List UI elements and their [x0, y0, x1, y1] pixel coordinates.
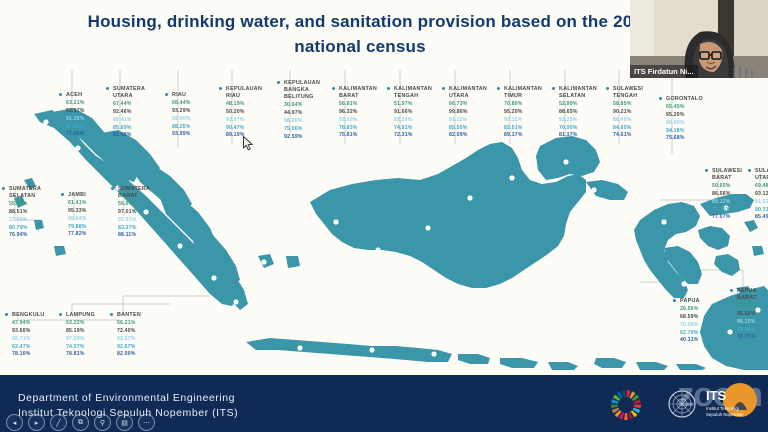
region-values: 66.73%99.86%91.11%85.50%82.09% — [449, 101, 487, 140]
value-indicator-2: 95.20% — [666, 112, 703, 120]
region-name: SULAWESI UTARA — [755, 168, 768, 182]
value-indicator-2: 99.86% — [449, 109, 487, 117]
region-values: 50.65%86.56%89.12%72.75%77.07% — [712, 183, 742, 222]
value-indicator-1: 58.85% — [613, 101, 643, 109]
region-label-kepulauan-riau: KEPULAUAN RIAU48.19%50.20%93.07%90.47%89… — [226, 86, 262, 140]
previous-slide-button[interactable]: ◂ — [6, 414, 23, 431]
value-indicator-3: 91.53% — [755, 199, 768, 207]
value-indicator-5: 81.08% — [113, 132, 145, 140]
region-values: 26.56%68.59%70.08%62.79%40.31% — [680, 306, 700, 345]
region-marker-dot — [106, 87, 109, 90]
region-name: KEPULAUAN RIAU — [226, 86, 262, 100]
value-indicator-4: 85.50% — [449, 125, 487, 133]
value-indicator-3: 92.11% — [504, 117, 542, 125]
value-indicator-4: 70.90% — [559, 125, 597, 133]
value-indicator-5: 40.31% — [680, 337, 700, 345]
value-indicator-1: 50.65% — [712, 183, 742, 191]
value-indicator-3: 97.59% — [66, 336, 95, 344]
value-indicator-5: 72.31% — [394, 132, 432, 140]
value-indicator-3: 90.90% — [666, 120, 703, 128]
svg-text:Institut Teknologi: Institut Teknologi — [706, 406, 739, 411]
value-indicator-1: 61.41% — [68, 200, 87, 208]
region-values: 55.44%95.52%86.10%75.56%78.71% — [737, 303, 757, 342]
value-indicator-2: 91.66% — [394, 109, 432, 117]
region-marker-dot — [552, 87, 555, 90]
value-indicator-5: 78.81% — [66, 351, 95, 359]
value-indicator-1: 68.44% — [172, 100, 191, 108]
region-label-lampung: LAMPUNG53.22%85.19%97.59%74.57%78.81% — [66, 312, 95, 359]
value-indicator-2: 96.32% — [339, 109, 377, 117]
value-indicator-4: 74.91% — [394, 125, 432, 133]
value-indicator-3: 27.89% — [9, 217, 41, 225]
value-indicator-2: 88.51% — [9, 209, 41, 217]
value-indicator-1: 56.81% — [339, 101, 377, 109]
value-indicator-1: 53.22% — [66, 320, 95, 328]
value-indicator-1: 26.56% — [680, 306, 700, 314]
region-name: PAPUA BARAT — [737, 288, 757, 302]
value-indicator-1: 55.44% — [737, 303, 757, 311]
search-button[interactable]: ⚲ — [94, 414, 111, 431]
region-values: 63.21%92.17%91.35%87.66%77.06% — [66, 100, 85, 139]
region-label-gorontalo: GORONTALO65.45%95.20%90.90%94.18%75.68% — [666, 96, 703, 143]
value-indicator-4: 87.66% — [66, 124, 85, 132]
region-values: 70.80%95.20%92.11%85.51%89.17% — [504, 101, 542, 140]
value-indicator-3: 89.12% — [712, 199, 742, 207]
region-label-jambi: JAMBI61.41%95.33%95.84%79.88%77.82% — [68, 192, 87, 239]
region-name: SULAWESI TENGAH — [613, 86, 643, 100]
value-indicator-2: 93.66% — [12, 328, 45, 336]
region-label-bengkulu: BENGKULU47.94%93.66%92.71%62.47%78.10% — [12, 312, 45, 359]
value-indicator-1: 56.21% — [117, 320, 141, 328]
value-indicator-2: 86.56% — [712, 191, 742, 199]
value-indicator-4: 72.75% — [712, 207, 742, 215]
page-title: Housing, drinking water, and sanitation … — [40, 10, 680, 59]
value-indicator-4: 92.67% — [117, 344, 141, 352]
value-indicator-2: 88.65% — [559, 109, 597, 117]
slide-toolbar[interactable]: ◂▸╱⧉⚲▤⋯ — [6, 414, 155, 431]
value-indicator-2: 93.29% — [172, 108, 191, 116]
region-name: KEPULAUAN BANGKA BELITUNG — [284, 80, 320, 101]
title-line-2: national census — [40, 35, 680, 60]
value-indicator-2: 90.21% — [613, 109, 643, 117]
value-indicator-5: 78.10% — [12, 351, 45, 359]
value-indicator-3: 92.27% — [117, 336, 141, 344]
region-values: 56.67%97.01%92.91%83.37%88.11% — [118, 201, 150, 240]
value-indicator-5: 74.61% — [613, 132, 643, 140]
region-marker-dot — [748, 169, 751, 172]
region-name: RIAU — [172, 92, 191, 99]
value-indicator-3: 89.41% — [113, 117, 145, 125]
value-indicator-4: 90.47% — [226, 125, 262, 133]
value-indicator-4: 79.88% — [68, 224, 87, 232]
sdg-wheel-logo — [596, 382, 656, 428]
region-label-riau: RIAU68.44%93.29%92.90%88.25%93.99% — [172, 92, 191, 139]
value-indicator-5: 75.68% — [666, 135, 703, 143]
value-indicator-2: 95.52% — [737, 311, 757, 319]
region-marker-dot — [606, 87, 609, 90]
value-indicator-4: 74.57% — [66, 344, 95, 352]
region-values: 48.19%50.20%93.07%90.47%89.19% — [226, 101, 262, 140]
value-indicator-5: 75.81% — [339, 132, 377, 140]
value-indicator-4: 75.56% — [737, 327, 757, 335]
region-marker-dot — [332, 87, 335, 90]
value-indicator-4: 85.51% — [504, 125, 542, 133]
region-marker-dot — [730, 289, 733, 292]
region-values: 69.48%93.13%91.53%90.31%85.49% — [755, 183, 768, 222]
region-values: 56.81%96.32%92.20%78.83%75.81% — [339, 101, 377, 140]
region-label-sulawesi-barat: SULAWESI BARAT50.65%86.56%89.12%72.75%77… — [712, 168, 742, 222]
region-marker-dot — [497, 87, 500, 90]
value-indicator-3: 88.40% — [613, 117, 643, 125]
value-indicator-3: 95.84% — [68, 216, 87, 224]
value-indicator-5: 77.06% — [66, 131, 85, 139]
region-label-kepulauan-bangka-belitung: KEPULAUAN BANGKA BELITUNG30.64%44.97%96.… — [284, 80, 320, 141]
value-indicator-4: 78.83% — [339, 125, 377, 133]
region-name: PAPUA — [680, 298, 700, 305]
region-name: SUMATERA UTARA — [113, 86, 145, 100]
region-marker-dot — [277, 81, 280, 84]
value-indicator-1: 30.64% — [284, 102, 320, 110]
region-label-sumatera-selatan: SUMATERA SELATAN55.25%88.51%27.89%80.79%… — [9, 186, 41, 240]
value-indicator-2: 92.17% — [66, 108, 85, 116]
region-values: 58.85%90.21%88.40%84.60%74.61% — [613, 101, 643, 140]
region-label-sumatera-barat: SUMATERA BARAT56.67%97.01%92.91%83.37%88… — [118, 186, 150, 240]
region-name: LAMPUNG — [66, 312, 95, 319]
region-label-sulawesi-utara: SULAWESI UTARA69.48%93.13%91.53%90.31%85… — [755, 168, 768, 222]
region-name: JAMBI — [68, 192, 87, 199]
region-marker-dot — [219, 87, 222, 90]
value-indicator-2: 95.20% — [504, 109, 542, 117]
value-indicator-1: 69.48% — [755, 183, 768, 191]
region-label-kalimantan-barat: KALIMANTAN BARAT56.81%96.32%92.20%78.83%… — [339, 86, 377, 140]
value-indicator-1: 55.25% — [9, 201, 41, 209]
region-values: 67.44%92.46%89.41%85.69%81.08% — [113, 101, 145, 140]
region-marker-dot — [59, 93, 62, 96]
region-values: 30.64%44.97%96.20%75.06%92.59% — [284, 102, 320, 141]
region-values: 55.25%88.51%27.89%80.79%76.94% — [9, 201, 41, 240]
value-indicator-1: 56.67% — [118, 201, 150, 209]
value-indicator-1: 47.94% — [12, 320, 45, 328]
value-indicator-3: 92.91% — [118, 217, 150, 225]
value-indicator-5: 77.07% — [712, 214, 742, 222]
region-label-sumatera-utara: SUMATERA UTARA67.44%92.46%89.41%85.69%81… — [113, 86, 145, 140]
region-values: 68.44%93.29%92.90%88.25%93.99% — [172, 100, 191, 139]
value-indicator-2: 93.13% — [755, 191, 768, 199]
region-values: 56.21%72.40%92.27%92.67%82.00% — [117, 320, 141, 359]
value-indicator-4: 62.47% — [12, 344, 45, 352]
more-options-button[interactable]: ⋯ — [138, 414, 155, 431]
value-indicator-1: 52.99% — [559, 101, 597, 109]
value-indicator-4: 83.37% — [118, 225, 150, 233]
its-logo: ITS Institut Teknologi Sepuluh Nopember — [700, 380, 766, 428]
value-indicator-2: 97.01% — [118, 209, 150, 217]
annotate-pen-button[interactable]: ╱ — [50, 414, 67, 431]
region-name: SULAWESI BARAT — [712, 168, 742, 182]
region-name: ACEH — [66, 92, 85, 99]
value-indicator-3: 93.07% — [226, 117, 262, 125]
region-marker-dot — [705, 169, 708, 172]
region-marker-dot — [165, 93, 168, 96]
value-indicator-4: 80.79% — [9, 225, 41, 233]
region-values: 65.45%95.20%90.90%94.18%75.68% — [666, 104, 703, 143]
region-label-kalimantan-utara: KALIMANTAN UTARA66.73%99.86%91.11%85.50%… — [449, 86, 487, 140]
value-indicator-5: 78.71% — [737, 334, 757, 342]
region-values: 61.41%95.33%95.84%79.88%77.82% — [68, 200, 87, 239]
value-indicator-3: 96.20% — [284, 118, 320, 126]
value-indicator-4: 62.79% — [680, 330, 700, 338]
region-name: BENGKULU — [12, 312, 45, 319]
region-label-kalimantan-selatan: KALIMANTAN SELATAN52.99%88.65%93.25%70.9… — [559, 86, 597, 140]
region-marker-dot — [673, 299, 676, 302]
value-indicator-5: 93.99% — [172, 131, 191, 139]
participant-name-label: ITS Firdatun Ni... — [630, 65, 698, 78]
value-indicator-4: 75.06% — [284, 126, 320, 134]
value-indicator-5: 76.94% — [9, 232, 41, 240]
value-indicator-3: 91.11% — [449, 117, 487, 125]
value-indicator-1: 67.44% — [113, 101, 145, 109]
region-values: 52.99%88.65%93.25%70.90%81.17% — [559, 101, 597, 140]
value-indicator-3: 92.29% — [394, 117, 432, 125]
region-name: KALIMANTAN TIMUR — [504, 86, 542, 100]
region-marker-dot — [387, 87, 390, 90]
region-name: KALIMANTAN SELATAN — [559, 86, 597, 100]
duplicate-button[interactable]: ⧉ — [72, 414, 89, 431]
region-name: KALIMANTAN UTARA — [449, 86, 487, 100]
value-indicator-4: 84.60% — [613, 125, 643, 133]
region-name: KALIMANTAN TENGAH — [394, 86, 432, 100]
value-indicator-3: 86.10% — [737, 319, 757, 327]
webcam-tile[interactable]: ITS Firdatun Ni... — [630, 0, 768, 78]
region-marker-dot — [111, 187, 114, 190]
region-label-sulawesi-tengah: SULAWESI TENGAH58.85%90.21%88.40%84.60%7… — [613, 86, 643, 140]
value-indicator-2: 50.20% — [226, 109, 262, 117]
value-indicator-1: 70.80% — [504, 101, 542, 109]
value-indicator-5: 82.09% — [449, 132, 487, 140]
region-label-banten: BANTEN56.21%72.40%92.27%92.67%82.00% — [117, 312, 141, 359]
region-label-papua-barat: PAPUA BARAT55.44%95.52%86.10%75.56%78.71… — [737, 288, 757, 342]
region-values: 47.94%93.66%92.71%62.47%78.10% — [12, 320, 45, 359]
value-indicator-1: 65.45% — [666, 104, 703, 112]
region-marker-dot — [110, 313, 113, 316]
value-indicator-4: 85.69% — [113, 125, 145, 133]
value-indicator-4: 90.31% — [755, 207, 768, 215]
region-label-papua: PAPUA26.56%68.59%70.08%62.79%40.31% — [680, 298, 700, 345]
value-indicator-5: 85.49% — [755, 214, 768, 222]
value-indicator-5: 92.59% — [284, 134, 320, 142]
value-indicator-1: 66.73% — [449, 101, 487, 109]
footer-line-1: Department of Environmental Engineering — [18, 391, 238, 406]
region-name: KALIMANTAN BARAT — [339, 86, 377, 100]
mouse-cursor — [243, 136, 254, 151]
region-name: SUMATERA BARAT — [118, 186, 150, 200]
region-marker-dot — [61, 193, 64, 196]
value-indicator-5: 89.17% — [504, 132, 542, 140]
value-indicator-1: 48.19% — [226, 101, 262, 109]
region-label-aceh: ACEH63.21%92.17%91.35%87.66%77.06% — [66, 92, 85, 139]
value-indicator-5: 82.00% — [117, 351, 141, 359]
value-indicator-1: 51.97% — [394, 101, 432, 109]
region-name: SUMATERA SELATAN — [9, 186, 41, 200]
region-marker-dot — [5, 313, 8, 316]
region-values: 53.22%85.19%97.59%74.57%78.81% — [66, 320, 95, 359]
region-name: BANTEN — [117, 312, 141, 319]
un-emblem-logo — [662, 382, 702, 426]
value-indicator-2: 92.46% — [113, 109, 145, 117]
value-indicator-2: 85.19% — [66, 328, 95, 336]
region-marker-dot — [442, 87, 445, 90]
value-indicator-4: 88.25% — [172, 124, 191, 132]
value-indicator-3: 91.35% — [66, 116, 85, 124]
value-indicator-1: 63.21% — [66, 100, 85, 108]
value-indicator-3: 93.25% — [559, 117, 597, 125]
value-indicator-3: 92.20% — [339, 117, 377, 125]
value-indicator-2: 44.97% — [284, 110, 320, 118]
value-indicator-2: 72.40% — [117, 328, 141, 336]
svg-text:ITS: ITS — [706, 388, 727, 403]
region-marker-dot — [59, 313, 62, 316]
value-indicator-4: 94.18% — [666, 128, 703, 136]
region-values: 51.97%91.66%92.29%74.91%72.31% — [394, 101, 432, 140]
svg-text:Sepuluh Nopember: Sepuluh Nopember — [706, 412, 744, 417]
title-line-1: Housing, drinking water, and sanitation … — [40, 10, 680, 35]
value-indicator-5: 77.82% — [68, 231, 87, 239]
zoom-screenshare-window: Housing, drinking water, and sanitation … — [0, 0, 768, 432]
value-indicator-3: 70.08% — [680, 322, 700, 330]
value-indicator-5: 81.17% — [559, 132, 597, 140]
value-indicator-2: 68.59% — [680, 314, 700, 322]
region-marker-dot — [659, 97, 662, 100]
region-name: GORONTALO — [666, 96, 703, 103]
value-indicator-2: 95.33% — [68, 208, 87, 216]
value-indicator-5: 88.11% — [118, 232, 150, 240]
value-indicator-3: 92.90% — [172, 116, 191, 124]
comment-button[interactable]: ▤ — [116, 414, 133, 431]
region-label-kalimantan-timur: KALIMANTAN TIMUR70.80%95.20%92.11%85.51%… — [504, 86, 542, 140]
next-slide-button[interactable]: ▸ — [28, 414, 45, 431]
value-indicator-3: 92.71% — [12, 336, 45, 344]
region-marker-dot — [2, 187, 5, 190]
region-label-kalimantan-tengah: KALIMANTAN TENGAH51.97%91.66%92.29%74.91… — [394, 86, 432, 140]
